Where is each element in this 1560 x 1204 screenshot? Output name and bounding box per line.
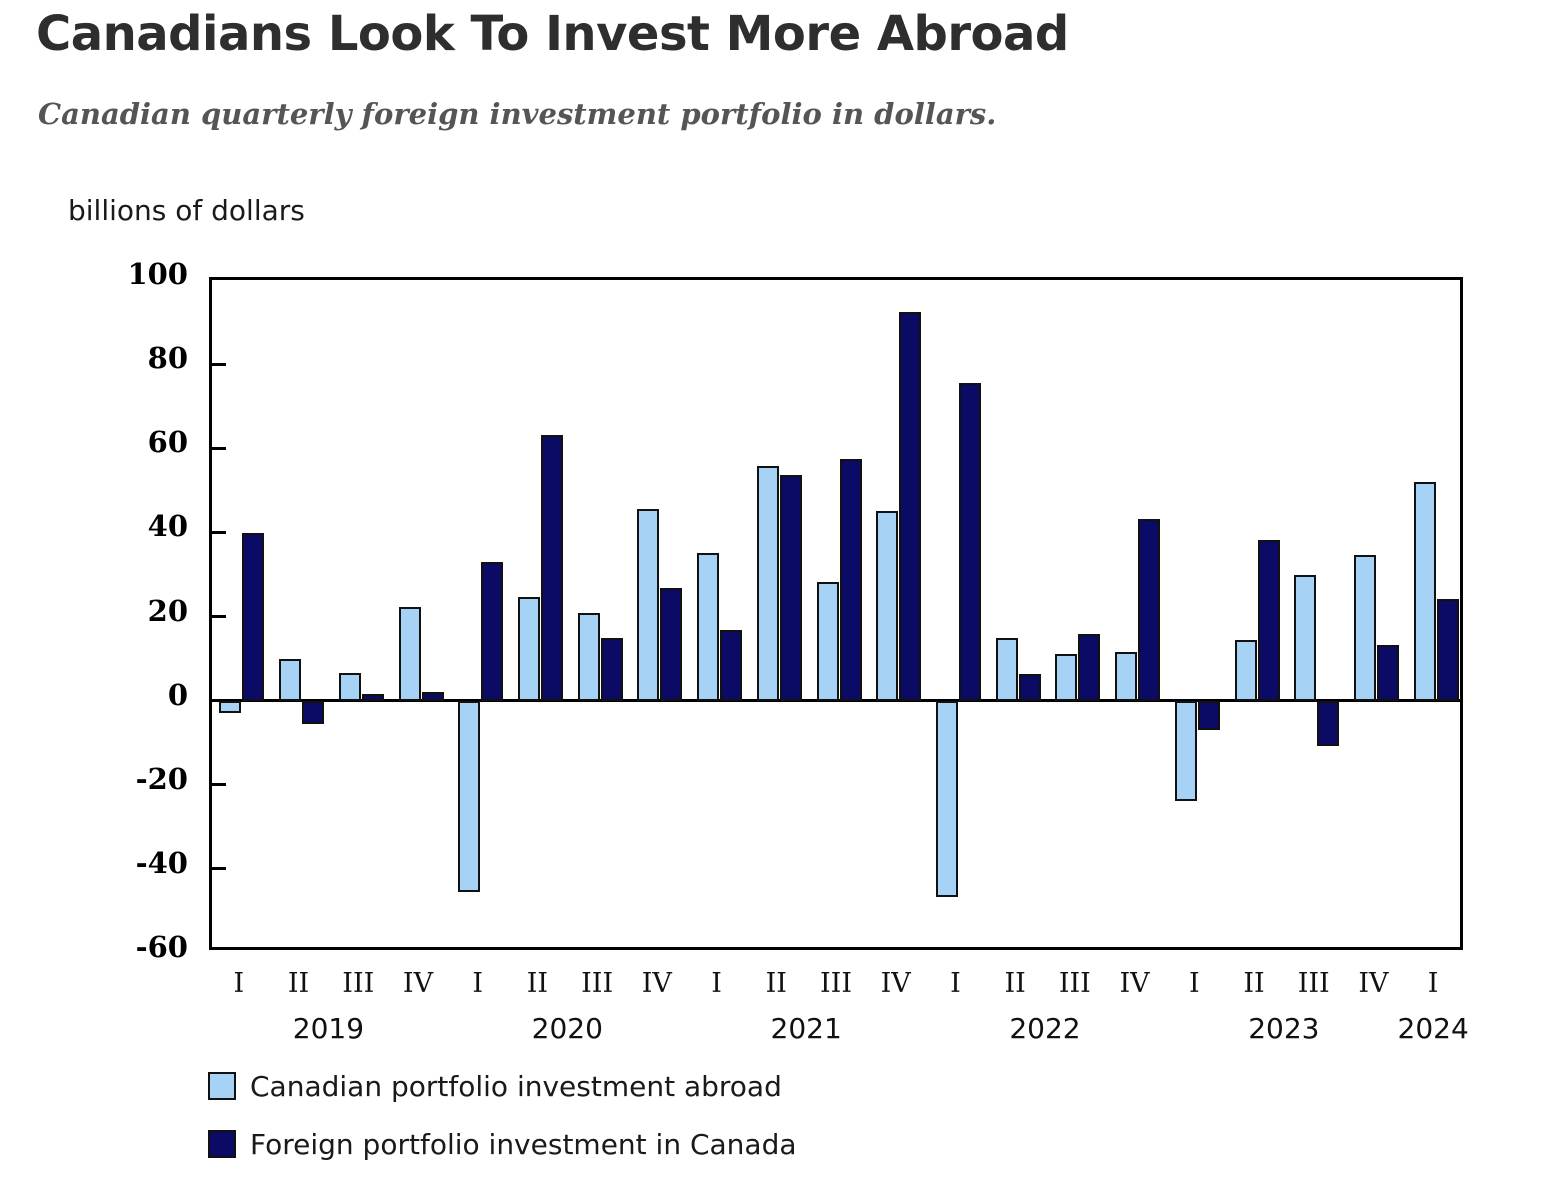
bar-abroad[interactable] bbox=[399, 607, 421, 700]
y-axis-tick-label: -20 bbox=[60, 762, 188, 796]
y-axis-tick bbox=[212, 447, 226, 450]
bar-abroad[interactable] bbox=[996, 638, 1018, 701]
bar-incanada[interactable] bbox=[1138, 519, 1160, 701]
bar-abroad[interactable] bbox=[518, 597, 540, 701]
legend-label-abroad: Canadian portfolio investment abroad bbox=[250, 1070, 782, 1103]
x-axis-quarter-label: III bbox=[1059, 968, 1091, 999]
x-axis-quarter-label: II bbox=[1004, 968, 1025, 999]
bar-incanada[interactable] bbox=[1317, 701, 1339, 746]
x-axis-quarter-label: IV bbox=[403, 968, 433, 999]
bar-incanada[interactable] bbox=[899, 312, 921, 701]
bar-incanada[interactable] bbox=[302, 701, 324, 725]
x-axis-quarter-label: IV bbox=[1119, 968, 1149, 999]
legend-swatch-icon-abroad bbox=[208, 1072, 236, 1100]
bar-abroad[interactable] bbox=[1115, 652, 1137, 700]
x-axis-quarter-label: III bbox=[581, 968, 613, 999]
legend-item-abroad[interactable]: Canadian portfolio investment abroad bbox=[208, 1064, 797, 1108]
x-axis-quarter-label: IV bbox=[881, 968, 911, 999]
y-axis-tick-label: 20 bbox=[60, 594, 188, 628]
chart-page: Canadians Look To Invest More Abroad Can… bbox=[0, 0, 1560, 1204]
bar-incanada[interactable] bbox=[1437, 599, 1459, 701]
bar-incanada[interactable] bbox=[481, 562, 503, 700]
y-axis-tick-label: 60 bbox=[60, 425, 188, 459]
x-axis-quarter-label: II bbox=[766, 968, 787, 999]
bar-incanada[interactable] bbox=[1078, 634, 1100, 701]
bar-incanada[interactable] bbox=[959, 383, 981, 700]
bar-incanada[interactable] bbox=[422, 692, 444, 701]
x-axis-quarter-label: II bbox=[288, 968, 309, 999]
bar-abroad[interactable] bbox=[876, 511, 898, 700]
y-axis-tick-label: -40 bbox=[60, 846, 188, 880]
y-axis-tick-label: 100 bbox=[60, 257, 188, 291]
x-axis-quarter-label: III bbox=[342, 968, 374, 999]
x-axis-quarter-label: II bbox=[527, 968, 548, 999]
y-axis-tick-label: -60 bbox=[60, 930, 188, 964]
x-axis-quarter-label: I bbox=[1189, 968, 1200, 999]
x-axis-quarter-label: I bbox=[1428, 968, 1439, 999]
x-axis-quarter-label: I bbox=[234, 968, 245, 999]
y-axis-tick bbox=[212, 867, 226, 870]
bar-abroad[interactable] bbox=[578, 613, 600, 700]
y-axis-tick-label: 40 bbox=[60, 509, 188, 543]
y-axis-tick bbox=[212, 615, 226, 618]
plot-inner bbox=[212, 280, 1460, 947]
bar-abroad[interactable] bbox=[637, 509, 659, 701]
bar-incanada[interactable] bbox=[601, 638, 623, 701]
x-axis-year-label: 2024 bbox=[1398, 1012, 1469, 1045]
legend-swatch-icon-in-canada bbox=[208, 1130, 236, 1158]
x-axis-year-label: 2023 bbox=[1248, 1012, 1319, 1045]
bar-abroad[interactable] bbox=[219, 701, 241, 714]
bar-incanada[interactable] bbox=[780, 475, 802, 701]
chart-legend: Canadian portfolio investment abroad For… bbox=[208, 1064, 797, 1180]
bar-abroad[interactable] bbox=[1235, 640, 1257, 700]
bar-incanada[interactable] bbox=[720, 630, 742, 701]
bar-abroad[interactable] bbox=[1294, 575, 1316, 701]
y-axis-tick-label: 80 bbox=[60, 341, 188, 375]
y-axis-tick bbox=[212, 783, 226, 786]
y-axis-caption: billions of dollars bbox=[68, 194, 305, 227]
page-title: Canadians Look To Invest More Abroad bbox=[36, 6, 1069, 62]
bar-incanada[interactable] bbox=[840, 459, 862, 701]
bar-abroad[interactable] bbox=[1414, 482, 1436, 701]
bar-incanada[interactable] bbox=[1019, 674, 1041, 700]
bar-abroad[interactable] bbox=[757, 466, 779, 700]
x-axis-quarter-label: I bbox=[711, 968, 722, 999]
x-axis-quarter-label: IV bbox=[642, 968, 672, 999]
plot-area bbox=[209, 277, 1463, 950]
x-axis-quarter-label: III bbox=[820, 968, 852, 999]
y-axis-tick bbox=[212, 363, 226, 366]
bar-incanada[interactable] bbox=[362, 694, 384, 700]
x-axis-quarter-label: III bbox=[1298, 968, 1330, 999]
x-axis-year-label: 2019 bbox=[293, 1012, 364, 1045]
bar-abroad[interactable] bbox=[697, 553, 719, 701]
legend-label-in-canada: Foreign portfolio investment in Canada bbox=[250, 1128, 797, 1161]
y-axis-tick bbox=[212, 531, 226, 534]
bar-abroad[interactable] bbox=[817, 582, 839, 701]
bar-abroad[interactable] bbox=[1175, 701, 1197, 802]
x-axis-year-label: 2022 bbox=[1009, 1012, 1080, 1045]
page-subtitle: Canadian quarterly foreign investment po… bbox=[38, 97, 996, 131]
y-axis-tick-label: 0 bbox=[60, 678, 188, 712]
legend-item-in-canada[interactable]: Foreign portfolio investment in Canada bbox=[208, 1122, 797, 1166]
x-axis-year-label: 2021 bbox=[771, 1012, 842, 1045]
bar-abroad[interactable] bbox=[936, 701, 958, 897]
bar-abroad[interactable] bbox=[279, 659, 301, 701]
bar-abroad[interactable] bbox=[458, 701, 480, 892]
bar-abroad[interactable] bbox=[339, 673, 361, 701]
bar-incanada[interactable] bbox=[1198, 701, 1220, 730]
bar-incanada[interactable] bbox=[1377, 645, 1399, 701]
x-axis-quarter-label: I bbox=[950, 968, 961, 999]
bar-abroad[interactable] bbox=[1055, 654, 1077, 700]
x-axis-quarter-label: I bbox=[472, 968, 483, 999]
x-axis-quarter-label: II bbox=[1243, 968, 1264, 999]
x-axis-year-label: 2020 bbox=[532, 1012, 603, 1045]
bar-incanada[interactable] bbox=[242, 533, 264, 700]
bar-incanada[interactable] bbox=[660, 588, 682, 701]
bar-incanada[interactable] bbox=[541, 435, 563, 700]
bar-abroad[interactable] bbox=[1354, 555, 1376, 701]
bar-incanada[interactable] bbox=[1258, 540, 1280, 701]
x-axis-quarter-label: IV bbox=[1358, 968, 1388, 999]
